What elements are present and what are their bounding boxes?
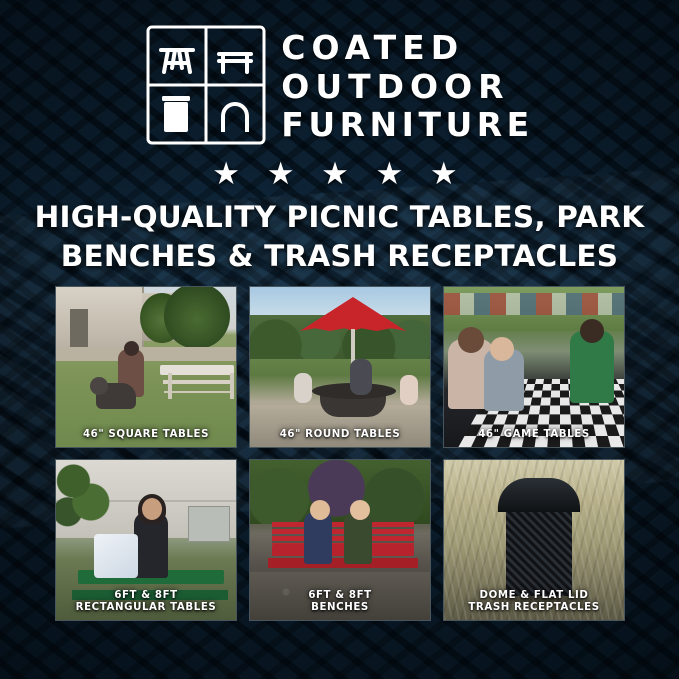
tile-caption: DOME & FLAT LID TRASH RECEPTACLES xyxy=(444,585,624,620)
headline-line-1: HIGH-QUALITY PICNIC TABLES, PARK xyxy=(35,200,645,234)
brand-name-line-1: COATED xyxy=(281,30,533,66)
star-rating-icon: ★ ★ ★ ★ ★ xyxy=(0,158,679,189)
tile-caption: 6FT & 8FT BENCHES xyxy=(250,585,430,620)
tile-caption-line-1: 6FT & 8FT xyxy=(114,590,177,601)
tile-caption-line-2: TRASH RECEPTACLES xyxy=(468,602,599,613)
tile-caption: 46" GAME TABLES xyxy=(444,424,624,447)
tile-caption-line-1: 6FT & 8FT xyxy=(308,590,371,601)
product-tile-rectangular-tables[interactable]: 6FT & 8FT RECTANGULAR TABLES xyxy=(55,459,237,621)
headline-line-2: BENCHES & TRASH RECEPTACLES xyxy=(0,237,679,276)
product-tile-game-tables[interactable]: 46" GAME TABLES xyxy=(443,286,625,448)
product-tile-benches[interactable]: 6FT & 8FT BENCHES xyxy=(249,459,431,621)
brand-logo: COATED OUTDOOR FURNITURE xyxy=(0,24,679,146)
logo-quadrant-icon xyxy=(145,24,267,146)
headline: HIGH-QUALITY PICNIC TABLES, PARK BENCHES… xyxy=(0,198,679,276)
brand-name-line-2: OUTDOOR xyxy=(281,69,533,105)
tile-caption-line-2: RECTANGULAR TABLES xyxy=(76,602,217,613)
product-tile-round-tables[interactable]: 46" ROUND TABLES xyxy=(249,286,431,448)
brand-name-line-3: FURNITURE xyxy=(281,107,533,143)
product-tile-square-tables[interactable]: 46" SQUARE TABLES xyxy=(55,286,237,448)
marketing-banner: COATED OUTDOOR FURNITURE ★ ★ ★ ★ ★ HIGH-… xyxy=(0,0,679,679)
product-tile-trash-receptacles[interactable]: DOME & FLAT LID TRASH RECEPTACLES xyxy=(443,459,625,621)
brand-wordmark: COATED OUTDOOR FURNITURE xyxy=(281,30,533,143)
banner-content: COATED OUTDOOR FURNITURE ★ ★ ★ ★ ★ HIGH-… xyxy=(0,0,679,679)
product-tile-grid: 46" SQUARE TABLES 46" ROUND TABLES xyxy=(55,286,625,621)
tile-caption: 46" SQUARE TABLES xyxy=(56,424,236,447)
tile-caption-line-1: DOME & FLAT LID xyxy=(480,590,589,601)
tile-caption: 46" ROUND TABLES xyxy=(250,424,430,447)
tile-caption: 6FT & 8FT RECTANGULAR TABLES xyxy=(56,585,236,620)
tile-caption-line-2: BENCHES xyxy=(311,602,369,613)
